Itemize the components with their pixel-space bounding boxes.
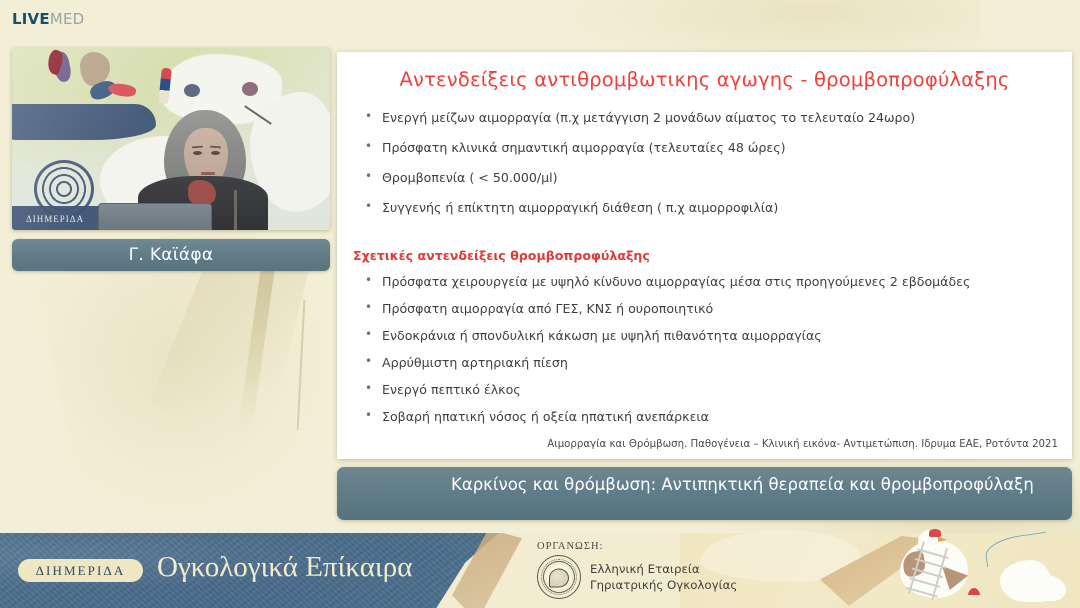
event-title: Ογκολογικά Επίκαιρα <box>157 551 412 584</box>
diimerida-pill: ΔΙΗΜΕΡΙΔΑ <box>18 559 143 582</box>
slide-panel[interactable]: Αντενδείξεις αντιθρομβωτικης αγωγης - θρ… <box>337 52 1072 459</box>
speaker-video[interactable]: ΔΙΗΜΕΡΙΔΑ <box>12 48 330 230</box>
list-item: Συγγενής ή επίκτητη αιμορραγική διάθεση … <box>353 200 1063 215</box>
footer-artwork-figure <box>968 588 980 604</box>
logo-text-live: LIVE <box>12 10 50 28</box>
footer-artwork-bird-comb <box>929 529 941 537</box>
society-seal-icon <box>537 555 581 599</box>
organizer-name-line2: Γηριατρικής Ογκολογίας <box>590 577 737 593</box>
slide-subheading: Σχετικές αντενδείξεις θρομβοπροφύλαξης <box>353 248 650 263</box>
primary-bullet-list: Ενεργή μείζων αιμορραγία (π.χ μετάγγιση … <box>353 110 1063 230</box>
top-bar: LIVEMED <box>0 0 1080 40</box>
video-glare-overlay <box>12 48 330 230</box>
speaker-name-plate: Γ. Καϊάφα <box>12 239 330 271</box>
logo-text-med: MED <box>50 10 85 28</box>
background-artwork-line <box>297 300 306 430</box>
session-title-label: Καρκίνος και θρόμβωση: Αντιπηκτική θεραπ… <box>355 474 1054 495</box>
list-item: Θρομβοπενία ( < 50.000/μl) <box>353 170 1063 185</box>
session-title-banner: Καρκίνος και θρόμβωση: Αντιπηκτική θεραπ… <box>337 467 1072 520</box>
diimerida-label: ΔΙΗΜΕΡΙΔΑ <box>36 563 126 579</box>
list-item: Ενεργή μείζων αιμορραγία (π.χ μετάγγιση … <box>353 110 1063 125</box>
background-artwork-streak <box>238 260 276 430</box>
list-item: Σοβαρή ηπατική νόσος ή οξεία ηπατική ανε… <box>353 409 1063 424</box>
list-item: Πρόσφατη αιμορραγία από ΓΕΣ, ΚΝΣ ή ουροπ… <box>353 301 1063 316</box>
list-item: Πρόσφατη κλινικά σημαντική αιμορραγία (τ… <box>353 140 1063 155</box>
list-item: Πρόσφατα χειρουργεία με υψηλό κίνδυνο αι… <box>353 274 1063 289</box>
slide-citation: Αιμορραγία και Θρόμβωση. Παθογένεια – Κλ… <box>547 439 1058 450</box>
list-item: Αρρύθμιστη αρτηριακή πίεση <box>353 355 1063 370</box>
livemed-logo[interactable]: LIVEMED <box>12 10 84 28</box>
presentation-viewer: LIVEMED ΔΙΗΜΕΡΙΔΑ Γ. Κ <box>0 0 1080 608</box>
slide-title: Αντενδείξεις αντιθρομβωτικης αγωγης - θρ… <box>337 68 1072 91</box>
speaker-name-label: Γ. Καϊάφα <box>129 245 214 265</box>
list-item: Ενδοκράνια ή σπονδυλική κάκωση με υψηλή … <box>353 328 1063 343</box>
background-artwork-shape <box>150 250 310 510</box>
secondary-bullet-list: Πρόσφατα χειρουργεία με υψηλό κίνδυνο αι… <box>353 274 1063 436</box>
list-item: Ενεργό πεπτικό έλκος <box>353 382 1063 397</box>
